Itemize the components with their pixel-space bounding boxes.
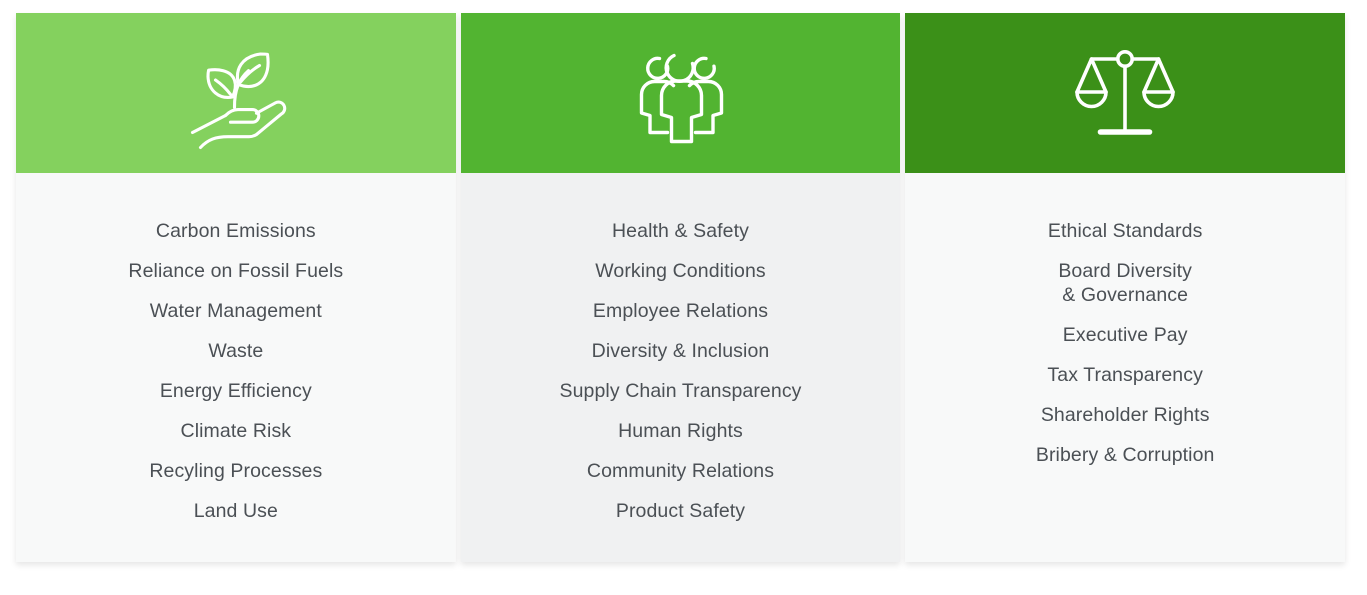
factor-item: Tax Transparency: [1047, 363, 1203, 387]
card-header-environmental: [16, 13, 456, 173]
factor-item: Health & Safety: [612, 219, 749, 243]
card-governance: Ethical Standards Board Diversity & Gove…: [905, 13, 1345, 562]
card-social: Health & Safety Working Conditions Emplo…: [461, 13, 901, 562]
factor-item: Climate Risk: [181, 419, 292, 443]
card-body-environmental: Carbon Emissions Reliance on Fossil Fuel…: [16, 173, 456, 562]
factor-item: Reliance on Fossil Fuels: [128, 259, 343, 283]
factor-item: Board Diversity & Governance: [1058, 259, 1192, 307]
card-header-governance: [905, 13, 1345, 173]
card-header-social: [461, 13, 901, 173]
hand-holding-plant-icon: [178, 35, 294, 151]
factor-item: Working Conditions: [595, 259, 766, 283]
factor-item: Diversity & Inclusion: [592, 339, 770, 363]
people-group-icon: [623, 35, 739, 151]
factor-item: Energy Efficiency: [160, 379, 312, 403]
balance-scales-icon: [1067, 35, 1183, 151]
factor-item: Carbon Emissions: [156, 219, 316, 243]
factor-item: Waste: [208, 339, 263, 363]
factor-item: Shareholder Rights: [1041, 403, 1210, 427]
factor-item: Supply Chain Transparency: [559, 379, 801, 403]
factor-item: Executive Pay: [1063, 323, 1188, 347]
factor-item: Recyling Processes: [149, 459, 322, 483]
factor-item: Water Management: [150, 299, 322, 323]
factor-item: Land Use: [194, 499, 278, 523]
factor-item: Human Rights: [618, 419, 743, 443]
factor-item: Employee Relations: [593, 299, 768, 323]
factor-item: Bribery & Corruption: [1036, 443, 1215, 467]
factor-item: Product Safety: [616, 499, 745, 523]
factor-item: Community Relations: [587, 459, 774, 483]
card-environmental: Carbon Emissions Reliance on Fossil Fuel…: [16, 13, 456, 562]
esg-factor-board: Carbon Emissions Reliance on Fossil Fuel…: [0, 0, 1367, 595]
card-body-social: Health & Safety Working Conditions Emplo…: [461, 173, 901, 562]
factor-item: Ethical Standards: [1048, 219, 1203, 243]
card-body-governance: Ethical Standards Board Diversity & Gove…: [905, 173, 1345, 562]
